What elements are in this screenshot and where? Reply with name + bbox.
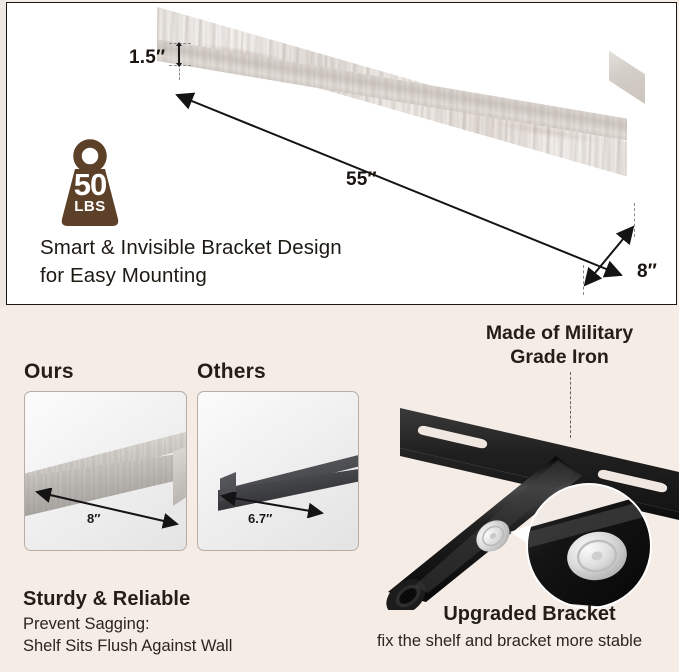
upgraded-bracket-subtitle: fix the shelf and bracket more stable <box>340 632 679 651</box>
infographic-page: 1.5″ 55″ <box>0 0 679 672</box>
plank-front-grain <box>157 39 627 140</box>
others-dimension-label: 6.7″ <box>248 511 272 526</box>
sturdy-subtitle: Prevent Sagging: Shelf Sits Flush Agains… <box>23 613 353 658</box>
sturdy-subtitle-line2: Shelf Sits Flush Against Wall <box>23 635 353 657</box>
top-panel: 1.5″ 55″ <box>6 2 677 305</box>
sturdy-title: Sturdy & Reliable <box>23 588 190 611</box>
ours-dimension-arrow <box>33 488 183 530</box>
top-headline-line1: Smart & Invisible Bracket Design <box>40 234 460 262</box>
weight-capacity-badge: 50 LBS <box>55 139 125 227</box>
sturdy-subtitle-line1: Prevent Sagging: <box>23 613 353 635</box>
top-headline: Smart & Invisible Bracket Design for Eas… <box>40 234 460 291</box>
dimension-length-label: 55″ <box>346 169 377 191</box>
bracket-material-line1: Made of Military <box>440 321 679 345</box>
plank-end-cap <box>609 42 645 104</box>
top-headline-line2: for Easy Mounting <box>40 262 460 290</box>
compare-box-others: 6.7″ <box>197 391 359 551</box>
bracket-svg <box>370 360 679 610</box>
dimension-depth-label: 8″ <box>637 261 657 283</box>
ours-dimension-label: 8″ <box>87 511 100 526</box>
compare-box-ours: 8″ <box>24 391 187 551</box>
bracket-illustration <box>370 360 679 610</box>
weight-number: 50 <box>55 169 125 200</box>
thickness-arrow <box>178 46 180 63</box>
compare-header-ours: Ours <box>24 360 74 384</box>
compare-header-others: Others <box>197 360 266 384</box>
depth-dimension-arrow <box>577 223 677 293</box>
upgraded-bracket-title: Upgraded Bracket <box>380 603 679 626</box>
dimension-thickness-label: 1.5″ <box>129 47 165 69</box>
weight-unit: LBS <box>55 199 125 214</box>
others-dimension-arrow <box>218 492 328 518</box>
